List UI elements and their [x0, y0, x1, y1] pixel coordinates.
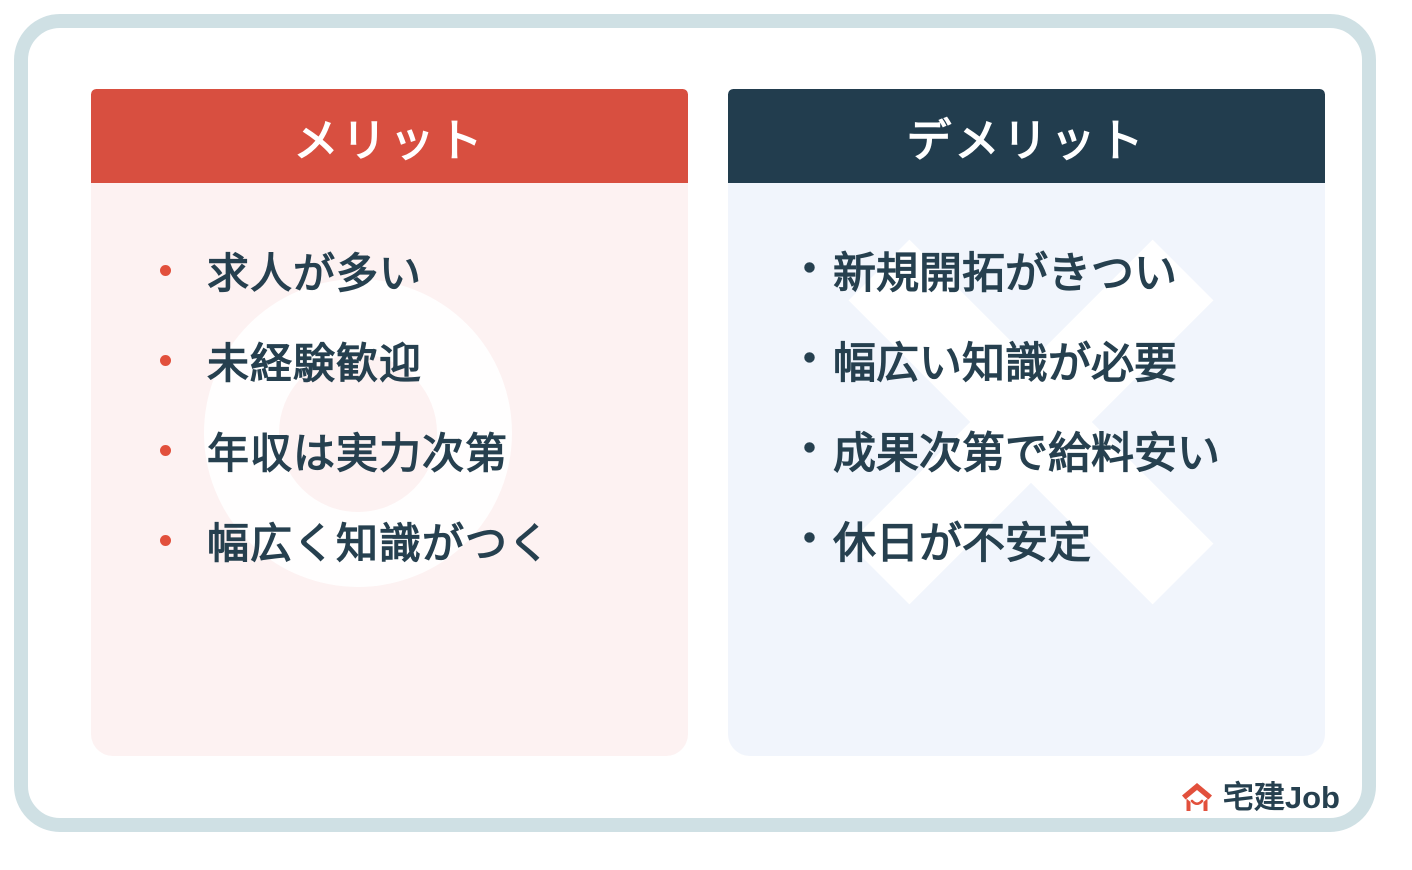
bullet-glyph-icon: ・: [788, 519, 831, 562]
demerit-header: デメリット: [728, 89, 1325, 183]
house-icon: [1180, 780, 1214, 814]
merit-header: メリット: [91, 89, 688, 183]
list-item: 幅広く知識がつく: [91, 495, 688, 585]
logo-text: 宅建Job: [1223, 782, 1340, 813]
list-item-label: 求人が多い: [207, 240, 422, 301]
list-item-label: 年収は実力次第: [207, 420, 508, 481]
list-item-label: 成果次第で給料安い: [833, 419, 1220, 481]
bullet-dot-icon: [160, 265, 171, 276]
bullet-dot-icon: [160, 445, 171, 456]
list-item: 年収は実力次第: [91, 405, 688, 495]
list-item: ・ 休日が不安定: [728, 495, 1325, 585]
list-item: 求人が多い: [91, 225, 688, 315]
demerit-list: ・ 新規開拓がきつい ・ 幅広い知識が必要 ・ 成果次第で給料安い ・ 休日が不…: [728, 225, 1325, 585]
merit-body: 求人が多い 未経験歓迎 年収は実力次第 幅広く知識がつく: [91, 183, 688, 756]
comparison-columns: メリット 求人が多い 未経験歓迎 年収は実力次第: [91, 89, 1325, 756]
demerit-body: ・ 新規開拓がきつい ・ 幅広い知識が必要 ・ 成果次第で給料安い ・ 休日が不…: [728, 183, 1325, 756]
list-item: 未経験歓迎: [91, 315, 688, 405]
merit-list: 求人が多い 未経験歓迎 年収は実力次第 幅広く知識がつく: [91, 225, 688, 585]
list-item-label: 新規開拓がきつい: [833, 239, 1177, 301]
bullet-dot-icon: [160, 355, 171, 366]
slide-canvas: メリット 求人が多い 未経験歓迎 年収は実力次第: [0, 0, 1412, 870]
merit-panel: メリット 求人が多い 未経験歓迎 年収は実力次第: [91, 89, 688, 756]
demerit-panel: デメリット ・ 新規開拓がきつい ・ 幅広い知識が必要 ・ 成果次第で給料安い: [728, 89, 1325, 756]
list-item-label: 未経験歓迎: [207, 330, 422, 391]
list-item-label: 休日が不安定: [833, 509, 1091, 571]
list-item-label: 幅広い知識が必要: [833, 329, 1177, 391]
list-item: ・ 新規開拓がきつい: [728, 225, 1325, 315]
brand-logo: 宅建Job: [1180, 780, 1340, 814]
list-item: ・ 成果次第で給料安い: [728, 405, 1325, 495]
list-item: ・ 幅広い知識が必要: [728, 315, 1325, 405]
bullet-glyph-icon: ・: [788, 339, 831, 382]
bullet-dot-icon: [160, 535, 171, 546]
list-item-label: 幅広く知識がつく: [207, 510, 551, 571]
bullet-glyph-icon: ・: [788, 429, 831, 472]
bullet-glyph-icon: ・: [788, 249, 831, 292]
